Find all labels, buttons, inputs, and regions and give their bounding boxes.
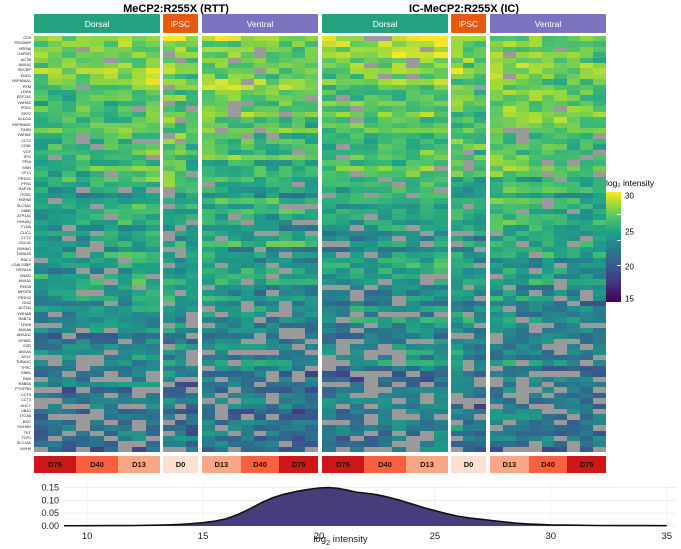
- heatmap-row: [34, 447, 160, 452]
- timepoint-segment[interactable]: D75: [279, 456, 318, 473]
- facet-strip-ipsc: iPSC: [451, 14, 486, 33]
- timepoint-label: D75: [48, 460, 62, 469]
- timepoint-label: D40: [378, 460, 392, 469]
- heatmap-cell: [392, 447, 406, 452]
- density-x-axis-label: log2 intensity: [0, 534, 681, 547]
- timepoint-label: D13: [420, 460, 434, 469]
- heatmap-panel[interactable]: [322, 36, 448, 453]
- heatmap-cell: [104, 447, 118, 452]
- timepoint-segment[interactable]: D13: [490, 456, 529, 473]
- heatmap-cell: [593, 447, 606, 452]
- heatmap-cell: [62, 447, 76, 452]
- timepoint-segment[interactable]: D13: [406, 456, 448, 473]
- legend-title: log₂ intensity: [606, 178, 654, 188]
- heatmap-cell: [406, 447, 420, 452]
- heatmap-cell: [34, 447, 48, 452]
- heatmap-panel[interactable]: [451, 36, 486, 453]
- timepoint-segment[interactable]: D0: [163, 456, 198, 473]
- legend-tick-30: 30: [625, 192, 634, 201]
- heatmap-cell: [463, 447, 475, 452]
- timepoint-label: D0: [464, 460, 474, 469]
- heatmap-cell: [215, 447, 228, 452]
- facet-strip-dorsal: Dorsal: [322, 14, 448, 33]
- heatmap-cell: [132, 447, 146, 452]
- heatmap-cell: [322, 447, 336, 452]
- timepoint-label: D40: [541, 460, 555, 469]
- heatmap-cell: [350, 447, 364, 452]
- timepoint-label: D75: [336, 460, 350, 469]
- heatmap-cell: [516, 447, 529, 452]
- heatmap-cell: [420, 447, 434, 452]
- timepoint-segment[interactable]: D40: [241, 456, 280, 473]
- heatmap-cell: [305, 447, 318, 452]
- facet-strip-label: Ventral: [247, 19, 273, 29]
- heatmap-cell: [554, 447, 567, 452]
- legend-tick-labels: 30 25 20 15: [621, 192, 645, 302]
- facet-strip-ipsc: iPSC: [163, 14, 198, 33]
- timepoint-segment[interactable]: D40: [529, 456, 568, 473]
- density-y-tick-label: 0.15: [41, 482, 59, 492]
- timepoint-bar: D13D40D75: [202, 456, 318, 473]
- heatmap-cell: [254, 447, 267, 452]
- heatmap-cell: [503, 447, 516, 452]
- timepoint-bar: D75D40D13: [34, 456, 160, 473]
- facet-strip-ventral: Ventral: [202, 14, 318, 33]
- heatmap-cell: [163, 447, 175, 452]
- timepoint-label: D0: [176, 460, 186, 469]
- heatmap-cell: [336, 447, 350, 452]
- timepoint-segment[interactable]: D13: [118, 456, 160, 473]
- legend-tick-15: 15: [625, 295, 634, 304]
- heatmap-row: [322, 447, 448, 452]
- gene-label-axis: CD9PDCD6IPHSPA8GAPDHACTBANXA2SDCBPENO1HS…: [0, 36, 33, 452]
- timepoint-label: D40: [90, 460, 104, 469]
- timepoint-label: D13: [132, 460, 146, 469]
- colorbar-legend: log₂ intensity 30 25 20 15: [606, 178, 654, 302]
- density-y-tick-label: 0.00: [41, 521, 59, 531]
- heatmap-panel[interactable]: [34, 36, 160, 453]
- heatmap-cell: [292, 447, 305, 452]
- heatmap-cell: [434, 447, 448, 452]
- heatmap-cell: [186, 447, 198, 452]
- facet-strip-label: Dorsal: [373, 19, 398, 29]
- heatmap-cell: [474, 447, 486, 452]
- heatmap-cell: [228, 447, 241, 452]
- heatmap-cell: [241, 447, 254, 452]
- heatmap-cell: [175, 447, 187, 452]
- legend-gradient-bar: [606, 192, 621, 302]
- legend-tick-25: 25: [625, 228, 634, 237]
- timepoint-bar: D13D40D75: [490, 456, 606, 473]
- timepoint-label: D75: [580, 460, 594, 469]
- heatmap-cell: [490, 447, 503, 452]
- heatmap-cell: [378, 447, 392, 452]
- figure-root: MeCP2:R255X (RTT) IC-MeCP2:R255X (IC) CD…: [0, 0, 681, 549]
- timepoint-segment[interactable]: D13: [202, 456, 241, 473]
- heatmap-row: [451, 447, 486, 452]
- heatmap-cell: [146, 447, 160, 452]
- timepoint-label: D13: [214, 460, 228, 469]
- timepoint-segment[interactable]: D40: [364, 456, 406, 473]
- facet-strip-label: Ventral: [535, 19, 561, 29]
- heatmap-cell: [76, 447, 90, 452]
- legend-tick-20: 20: [625, 263, 634, 272]
- heatmap-cell: [48, 447, 62, 452]
- timepoint-segment[interactable]: D75: [34, 456, 76, 473]
- density-y-tick-label: 0.10: [41, 495, 59, 505]
- facet-strip-label: iPSC: [459, 19, 478, 29]
- heatmap-row: [490, 447, 606, 452]
- heatmap-cell: [202, 447, 215, 452]
- timepoint-segment[interactable]: D75: [567, 456, 606, 473]
- timepoint-segment[interactable]: D0: [451, 456, 486, 473]
- heatmap-cell: [542, 447, 555, 452]
- heatmap-panel[interactable]: [490, 36, 606, 453]
- heatmap-cell: [580, 447, 593, 452]
- heatmap-cell: [266, 447, 279, 452]
- heatmap-cell: [118, 447, 132, 452]
- facet-strip-label: Dorsal: [85, 19, 110, 29]
- heatmap-row: [163, 447, 198, 452]
- heatmap-cell: [364, 447, 378, 452]
- timepoint-label: D75: [292, 460, 306, 469]
- timepoint-label: D40: [253, 460, 267, 469]
- heatmap-row: [202, 447, 318, 452]
- facet-strip-ventral: Ventral: [490, 14, 606, 33]
- timepoint-bar: D0: [451, 456, 486, 473]
- heatmap-cell: [451, 447, 463, 452]
- heatmap-cell: [567, 447, 580, 452]
- gene-label: MYH9: [0, 447, 33, 452]
- density-y-tick-label: 0.05: [41, 508, 59, 518]
- heatmap-cell: [90, 447, 104, 452]
- timepoint-segment[interactable]: D40: [76, 456, 118, 473]
- timepoint-bar: D0: [163, 456, 198, 473]
- facet-strip-label: iPSC: [171, 19, 190, 29]
- heatmap-cell: [529, 447, 542, 452]
- timepoint-bar: D75D40D13: [322, 456, 448, 473]
- timepoint-label: D13: [502, 460, 516, 469]
- heatmap-panel[interactable]: [163, 36, 198, 453]
- timepoint-segment[interactable]: D75: [322, 456, 364, 473]
- facet-strip-dorsal: Dorsal: [34, 14, 160, 33]
- heatmap-cell: [279, 447, 292, 452]
- heatmap-panel[interactable]: [202, 36, 318, 453]
